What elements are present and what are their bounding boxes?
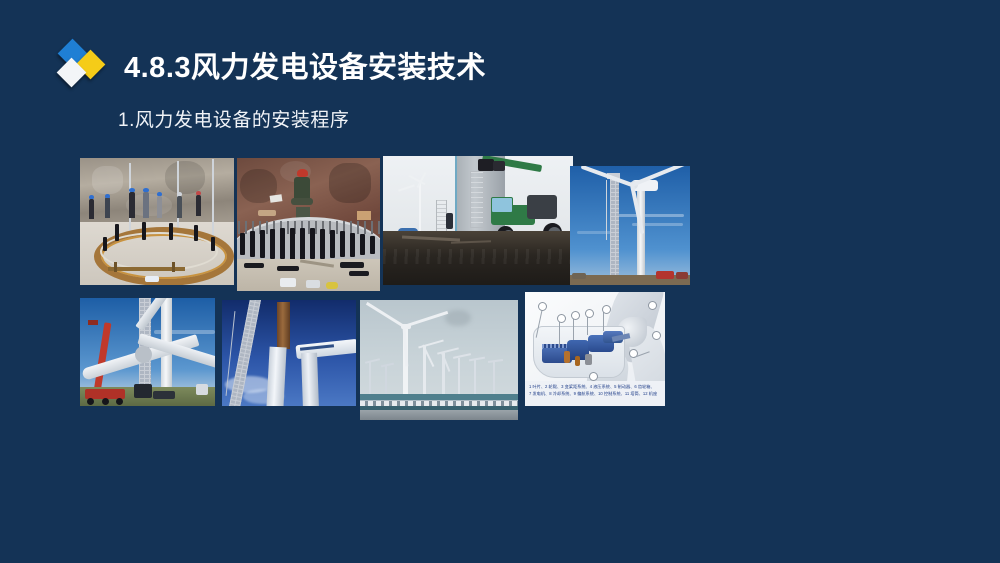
foundation-anchor-ring-photo — [80, 158, 234, 285]
nacelle-hoisting-photo — [222, 300, 356, 406]
diagram-caption: 1 叶片、2 轮毂、3 变桨距系统、4 液压系统、5 制动器、6 齿轮箱、 7 … — [525, 381, 665, 406]
diagram-caption-line-2: 7 发电机、8 冷却系统、9 偏航系统、10 控制系统、11 塔筒、12 机座 — [529, 390, 661, 398]
nacelle-cutaway-diagram: 1 叶片、2 轮毂、3 变桨距系统、4 液压系统、5 制动器、6 齿轮箱、 7 … — [525, 292, 665, 406]
page-title: 4.8.3风力发电设备安装技术 — [124, 44, 486, 86]
diagram-caption-line-1: 1 叶片、2 轮毂、3 变桨距系统、4 液压系统、5 制动器、6 齿轮箱、 — [529, 383, 661, 391]
anchor-bolt-cage-photo — [237, 158, 380, 291]
slide-header: 4.8.3风力发电设备安装技术 — [56, 40, 486, 90]
turbine-erection-crane-photo — [570, 166, 690, 285]
three-diamond-logo — [56, 40, 110, 90]
rotor-blade-lifting-photo — [80, 298, 215, 406]
tower-base-machinery-photo — [383, 156, 573, 285]
wind-farm-overview-photo — [360, 300, 518, 420]
section-subtitle: 1.风力发电设备的安装程序 — [118, 105, 349, 132]
presentation-slide: 4.8.3风力发电设备安装技术 1.风力发电设备的安装程序 — [0, 0, 1000, 563]
